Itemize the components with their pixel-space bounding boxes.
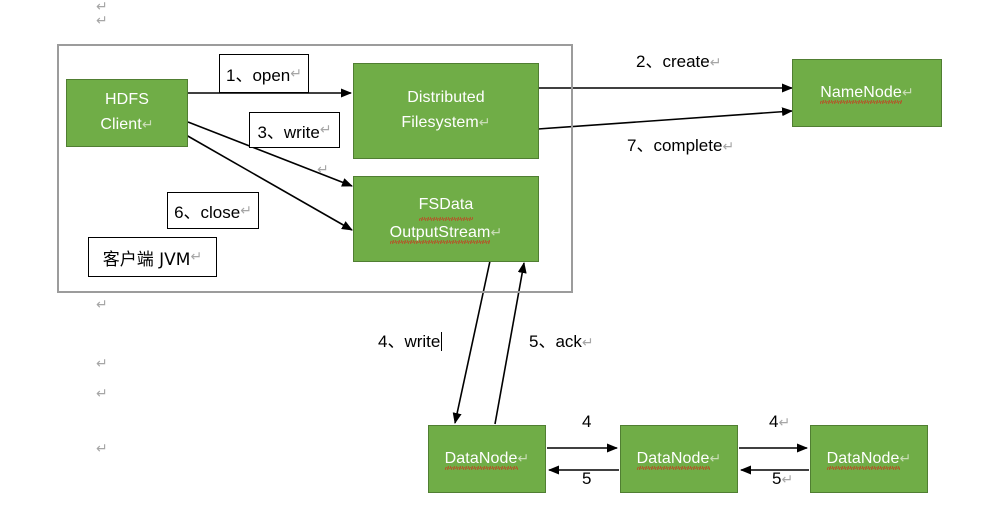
label-pipeline-ack-a: 5 — [582, 469, 591, 489]
label-step4-write: 4、write — [378, 327, 442, 352]
node-datanode-1-line-0: DataNode↵ — [445, 447, 530, 472]
callout-step6-close[interactable]: 6、close↵ — [167, 192, 259, 229]
label-step4-text: 4、write — [378, 332, 440, 351]
label-pipeline-write-b: 4↵ — [769, 412, 790, 432]
paragraph-mark-icon: ↵ — [902, 85, 914, 101]
label-pipeline-ack-a-text: 5 — [582, 469, 591, 488]
callout-step1-text: 1、open — [226, 61, 290, 86]
callout-client-jvm[interactable]: 客户端 JVM↵ — [88, 237, 217, 277]
callout-client-jvm-text: 客户端 JVM — [103, 245, 191, 270]
label-step5-ack: 5、ack↵ — [529, 327, 594, 352]
paragraph-mark-icon: ↵ — [190, 250, 202, 264]
paragraph-mark-icon: ↵ — [778, 415, 790, 431]
callout-step3-write[interactable]: 3、write↵ — [249, 112, 340, 148]
node-datanode-3[interactable]: DataNode↵ — [810, 425, 928, 493]
paragraph-mark-icon: ↵ — [582, 335, 594, 351]
label-step7-complete: 7、complete↵ — [627, 131, 734, 156]
paragraph-mark-icon: ↵ — [240, 204, 252, 218]
label-step2-text: 2、create — [636, 52, 710, 71]
text-caret — [441, 332, 442, 351]
node-datanode-1[interactable]: DataNode↵ — [428, 425, 546, 493]
paragraph-mark-icon: ↵ — [320, 123, 332, 137]
label-step2-create: 2、create↵ — [636, 47, 721, 72]
paragraph-mark-icon: ↵ — [710, 55, 722, 71]
paragraph-mark-icon-4: ↵ — [96, 357, 108, 371]
paragraph-mark-icon: ↵ — [518, 451, 530, 467]
node-datanode-3-line-0: DataNode↵ — [827, 447, 912, 472]
paragraph-mark-icon-2: ↵ — [96, 14, 108, 28]
arrow-complete-dfs-to-namenode — [538, 111, 792, 129]
node-datanode-2-line-0: DataNode↵ — [637, 447, 722, 472]
label-pipeline-write-a: 4 — [582, 412, 591, 432]
paragraph-mark-icon-5: ↵ — [96, 387, 108, 401]
paragraph-mark-icon: ↵ — [900, 451, 912, 467]
label-step5-text: 5、ack — [529, 332, 582, 351]
paragraph-mark-icon-1: ↵ — [96, 0, 108, 14]
paragraph-mark-icon: ↵ — [290, 67, 302, 81]
label-step7-text: 7、complete — [627, 136, 722, 155]
diagram-canvas: HDFS Client↵ Distributed Filesystem↵ FSD… — [0, 0, 989, 528]
paragraph-mark-icon: ↵ — [710, 451, 722, 467]
paragraph-mark-icon-7: ↵ — [317, 163, 329, 177]
label-pipeline-write-a-text: 4 — [582, 412, 591, 431]
paragraph-mark-icon-3: ↵ — [96, 298, 108, 312]
paragraph-mark-icon-6: ↵ — [96, 442, 108, 456]
callout-step3-text: 3、write — [257, 118, 319, 143]
callout-step1-open[interactable]: 1、open↵ — [219, 54, 309, 93]
node-datanode-2[interactable]: DataNode↵ — [620, 425, 738, 493]
label-pipeline-ack-b: 5↵ — [772, 469, 793, 489]
callout-step6-text: 6、close — [174, 198, 240, 223]
paragraph-mark-icon: ↵ — [722, 139, 734, 155]
node-namenode-line-0: NameNode↵ — [820, 81, 914, 106]
paragraph-mark-icon: ↵ — [781, 472, 793, 488]
node-namenode[interactable]: NameNode↵ — [792, 59, 942, 127]
